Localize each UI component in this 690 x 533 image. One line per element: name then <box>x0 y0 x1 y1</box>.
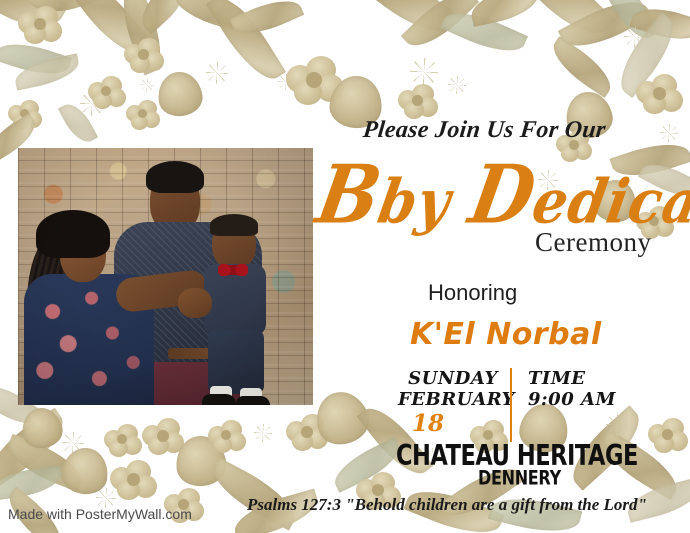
leaf-icon <box>401 0 479 58</box>
leaf-icon <box>0 465 63 501</box>
leaf-icon <box>58 98 98 147</box>
venue-location: DENNERY <box>478 466 561 489</box>
star-flower-icon <box>448 76 466 94</box>
page-title: Bby Dedication <box>312 164 690 231</box>
star-flower-icon <box>96 488 116 508</box>
leaf-icon <box>170 0 255 33</box>
leaf-icon <box>24 0 97 21</box>
time-label: TIME <box>528 368 638 389</box>
flower-icon <box>208 420 248 456</box>
leaf-icon <box>12 53 82 90</box>
leaf-icon <box>67 0 153 65</box>
star-flower-icon <box>254 424 272 442</box>
leaf-icon <box>155 69 205 119</box>
star-flower-icon <box>80 92 104 116</box>
mother-hair-top <box>36 210 110 258</box>
leaf-icon <box>1 434 88 493</box>
leaf-icon <box>520 0 615 48</box>
flower-icon <box>88 76 128 112</box>
father-hair <box>146 161 204 193</box>
event-weekday: SUNDAY <box>398 368 508 389</box>
event-details: SUNDAY FEBRUARY TIME 9:00 AM 18 <box>390 366 640 446</box>
star-flower-icon <box>140 78 154 92</box>
honoring-label: Honoring <box>428 280 517 306</box>
father-hand <box>178 288 212 318</box>
flower-icon <box>142 418 186 458</box>
baby-shoe-left <box>202 394 236 405</box>
invitation-poster: Please Join Us For Our Bby Dedication Ce… <box>0 0 690 533</box>
flower-icon <box>648 418 690 456</box>
leaf-icon <box>558 0 652 59</box>
time-value: 9:00 AM <box>528 389 638 410</box>
flower-icon <box>636 74 684 116</box>
leaf-icon <box>230 0 305 43</box>
leaf-icon <box>440 2 528 62</box>
leaf-icon <box>18 404 65 451</box>
leaf-icon <box>204 457 304 530</box>
event-time-block: TIME 9:00 AM <box>528 368 638 410</box>
postermywall-watermark: Made with PosterMyWall.com <box>8 506 192 522</box>
star-flower-icon <box>410 58 438 86</box>
leaf-icon <box>0 35 72 83</box>
baby-hair <box>210 214 258 236</box>
flower-icon <box>124 38 166 76</box>
leaf-icon <box>112 0 173 75</box>
event-month: FEBRUARY <box>398 389 508 410</box>
family-photo <box>18 148 313 405</box>
star-flower-icon <box>624 26 646 48</box>
invite-line: Please Join Us For Our <box>362 117 607 144</box>
title-word-baby: by <box>373 166 457 238</box>
flower-icon <box>8 100 44 132</box>
leaf-icon <box>545 36 619 98</box>
flower-icon <box>286 414 330 454</box>
baby-bowtie <box>218 264 248 276</box>
leaf-icon <box>174 434 229 489</box>
vertical-divider <box>510 368 512 442</box>
flower-icon <box>104 424 144 460</box>
leaf-icon <box>364 0 460 46</box>
leaf-icon <box>598 0 658 46</box>
star-flower-icon <box>278 74 294 90</box>
leaf-icon <box>629 0 690 48</box>
baby-shoe-right <box>236 396 270 405</box>
event-day-number: 18 <box>400 410 456 437</box>
star-flower-icon <box>660 124 678 142</box>
leaf-icon <box>206 0 286 89</box>
leaf-icon <box>309 385 375 451</box>
leaf-icon <box>132 0 195 34</box>
leaf-icon <box>609 12 686 98</box>
leaf-icon <box>59 445 111 497</box>
leaf-icon <box>0 0 69 40</box>
scripture-quote: Psalms 127:3 "Behold children are a gift… <box>247 495 647 515</box>
event-date-block: SUNDAY FEBRUARY <box>398 368 508 410</box>
title-subtitle: Ceremony <box>535 227 651 258</box>
star-flower-icon <box>62 432 84 454</box>
leaf-icon <box>468 0 543 27</box>
honoree-name: K'El Norbal <box>410 317 602 352</box>
flower-icon <box>126 100 162 132</box>
baby-trousers <box>208 330 264 394</box>
leaf-icon <box>0 408 74 487</box>
star-flower-icon <box>206 62 228 84</box>
flower-icon <box>18 6 64 46</box>
flower-icon <box>286 56 346 108</box>
flower-icon <box>110 460 158 502</box>
